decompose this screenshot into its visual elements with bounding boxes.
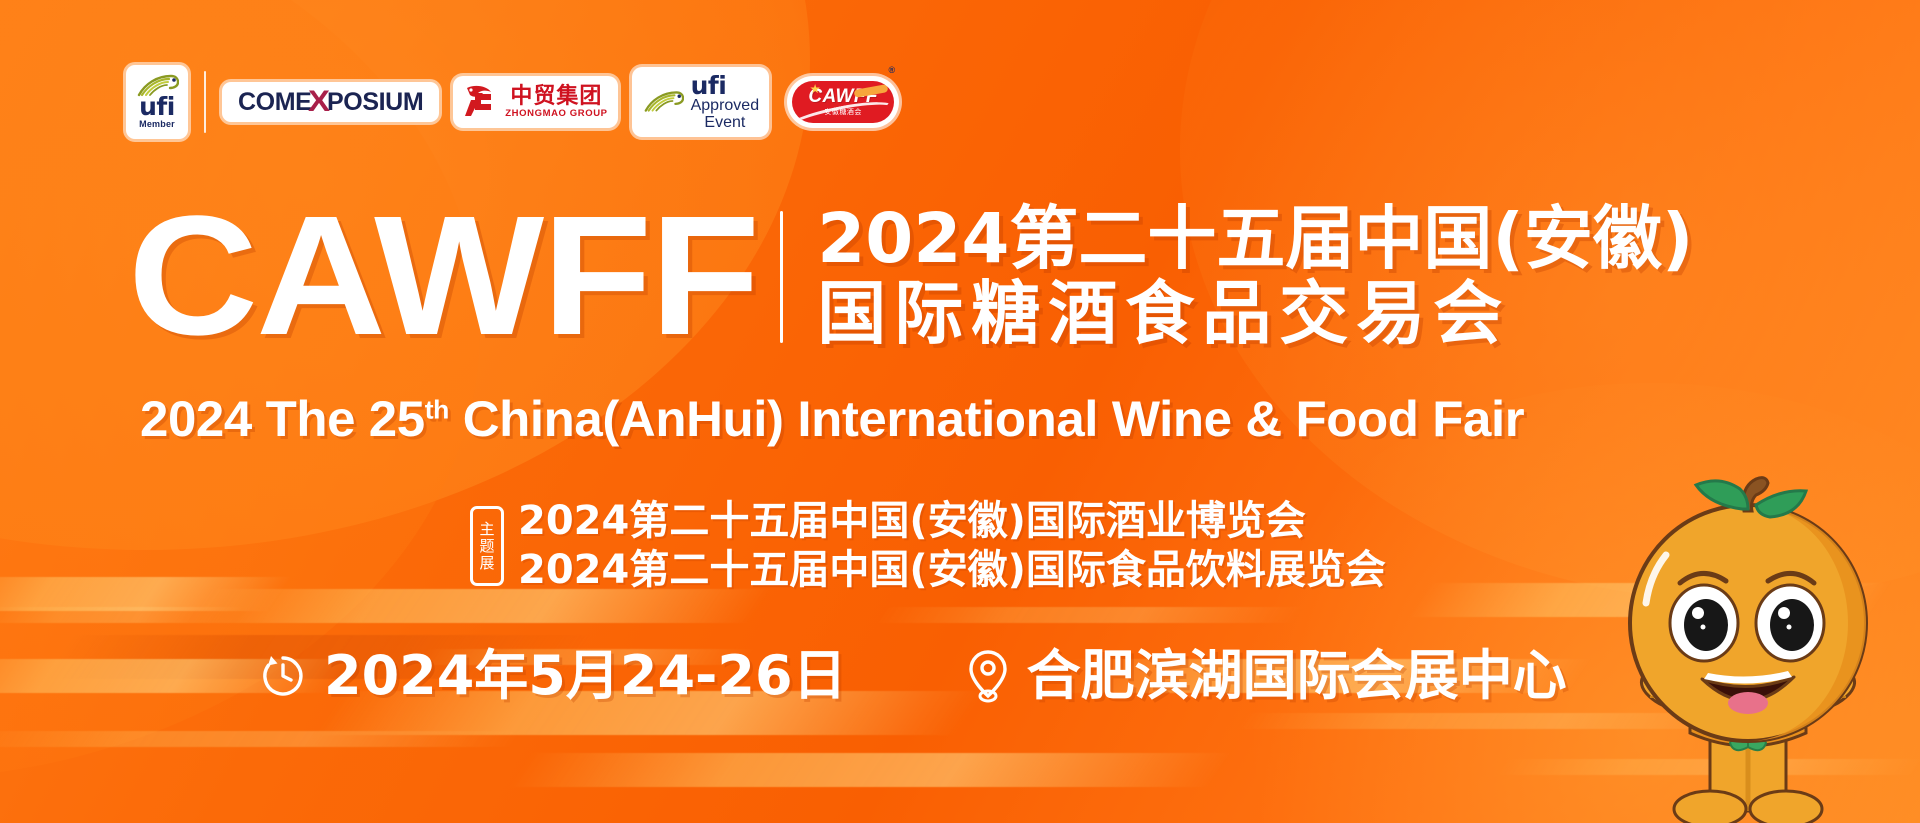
logo-divider — [204, 71, 206, 133]
ufi-member-logo[interactable]: ufi Member — [126, 65, 188, 139]
comexposium-logo[interactable]: COME X POSIUM — [222, 82, 439, 122]
event-banner: ufi Member COME X POSIUM 中贸集团 — [0, 0, 1920, 823]
theme-tag-label: 主 题 展 — [470, 506, 504, 586]
theme-exhibition-2: 2024第二十五届中国(安徽)国际食品饮料展览会 — [518, 547, 1386, 593]
theme-exhibitions: 主 题 展 2024第二十五届中国(安徽)国际酒业博览会 2024第二十五届中国… — [470, 498, 1386, 594]
ufi-bird-icon — [135, 74, 179, 98]
theme-tag-char-1: 主 — [479, 521, 494, 537]
theme-exhibition-1: 2024第二十五届中国(安徽)国际酒业博览会 — [518, 498, 1386, 544]
cawff-badge-logo[interactable]: CAWFF 安徽糖酒会 — [787, 76, 899, 128]
comexposium-x-icon: X — [308, 85, 330, 119]
theme-tag-char-2: 题 — [479, 538, 494, 554]
event-date-item: 2024年5月24-26日 — [258, 649, 847, 703]
title-english-pre: 2024 The 25 — [140, 391, 425, 447]
location-pin-icon — [965, 648, 1011, 704]
event-venue-item: 合肥滨湖国际会展中心 — [965, 648, 1567, 704]
ufi-approved-line2: Event — [704, 115, 745, 131]
title-divider — [780, 211, 783, 343]
ufi-wordmark: ufi — [139, 96, 175, 119]
registered-mark: ® — [888, 65, 895, 75]
ufi-bird-icon — [642, 90, 686, 114]
ufi-approved-line1: Approved — [691, 98, 760, 114]
title-chinese-line2: 国际糖酒食品交易会 — [817, 278, 1693, 350]
title-chinese-line1: 2024第二十五届中国(安徽) — [817, 203, 1693, 275]
zhongmao-english-name: ZHONGMAO GROUP — [505, 108, 607, 119]
zhongmao-group-logo[interactable]: 中贸集团 ZHONGMAO GROUP ® — [453, 76, 617, 128]
ufi-approved-event-logo[interactable]: ufi Approved Event — [632, 67, 770, 137]
comexposium-part2: POSIUM — [327, 88, 423, 117]
orange-mascot — [1598, 471, 1898, 823]
zhongmao-chinese-name: 中贸集团 — [510, 85, 602, 108]
event-venue: 合肥滨湖国际会展中心 — [1027, 649, 1567, 703]
title-english-post: China(AnHui) International Wine & Food F… — [449, 391, 1524, 447]
ufi-member-label: Member — [139, 119, 175, 129]
page-title-acronym: CAWFF — [128, 196, 758, 358]
ufi-approved-wordmark: ufi — [691, 73, 727, 99]
event-info-row: 2024年5月24-26日 合肥滨湖国际会展中心 — [258, 648, 1567, 704]
dragon-mark-icon — [461, 82, 497, 122]
sponsor-logo-row: ufi Member COME X POSIUM 中贸集团 — [126, 63, 899, 141]
main-title-block: CAWFF 2024第二十五届中国(安徽) 国际糖酒食品交易会 — [128, 196, 1693, 358]
title-english-ordinal: th — [425, 394, 449, 424]
event-date: 2024年5月24-26日 — [324, 649, 847, 703]
clock-icon — [258, 651, 308, 701]
comexposium-part1: COME — [238, 88, 311, 117]
theme-tag-char-3: 展 — [479, 555, 494, 571]
title-english: 2024 The 25th China(AnHui) International… — [140, 390, 1524, 448]
